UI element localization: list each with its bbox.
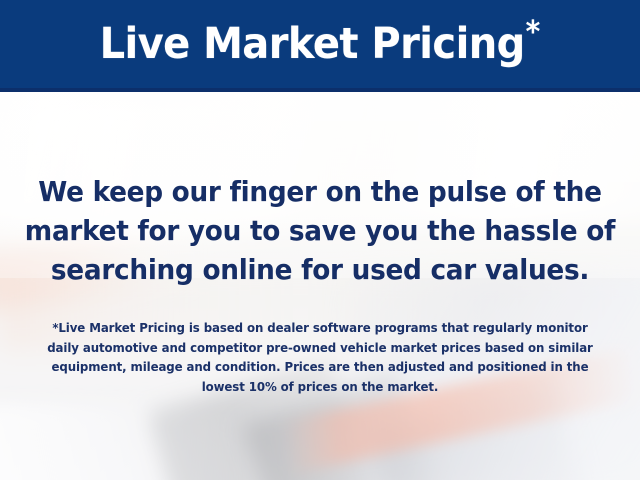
headline-line-2: market for you to save you the hassle of	[19, 211, 621, 250]
header-bar: Live Market Pricing*	[0, 0, 640, 88]
disclaimer-line-2: daily automotive and competitor pre-owne…	[16, 338, 624, 358]
headline-line-1: We keep our finger on the pulse of the	[19, 172, 621, 211]
headline: We keep our finger on the pulse of the m…	[19, 172, 621, 289]
headline-line-3: searching online for used car values.	[19, 250, 621, 289]
page-title: Live Market Pricing*	[100, 23, 540, 66]
disclaimer-line-1: *Live Market Pricing is based on dealer …	[16, 318, 624, 338]
disclaimer: *Live Market Pricing is based on dealer …	[16, 318, 624, 396]
page-title-text: Live Market Pricing	[100, 19, 525, 69]
header-bottom-rule	[0, 88, 640, 92]
page-title-asterisk: *	[526, 15, 540, 50]
disclaimer-line-4: lowest 10% of prices on the market.	[16, 377, 624, 397]
live-market-pricing-banner: Live Market Pricing* We keep our finger …	[0, 0, 640, 480]
disclaimer-line-3: equipment, mileage and condition. Prices…	[16, 357, 624, 377]
